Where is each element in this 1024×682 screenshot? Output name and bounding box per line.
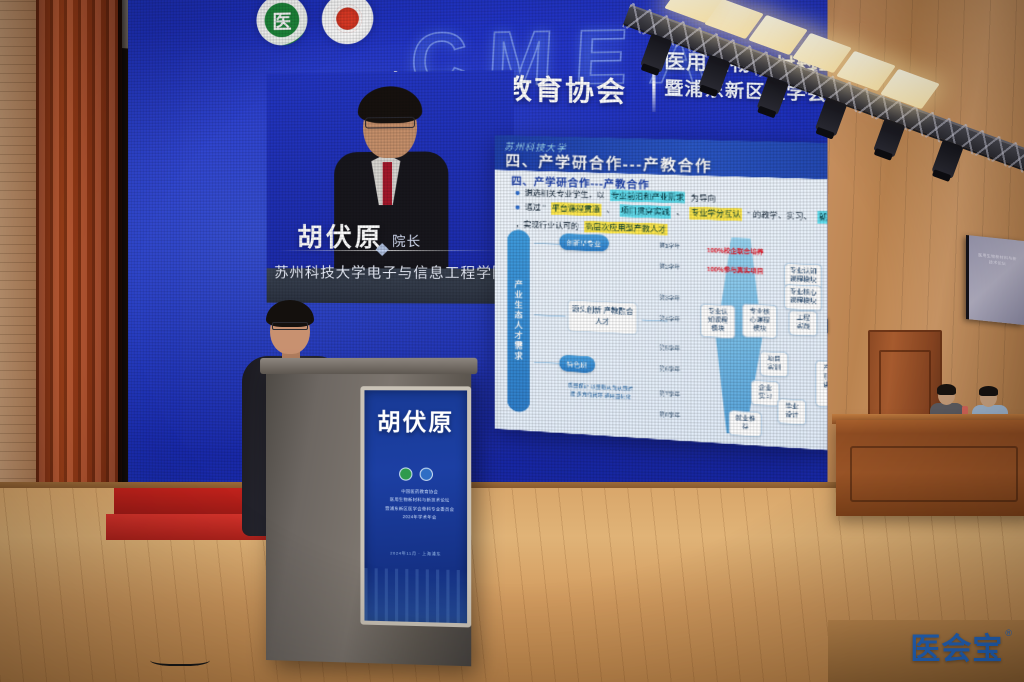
diagram-vertical-axis-label: 产业生态人才需求 [507, 229, 530, 412]
conference-hall-scene: 医用生物新材料与新技术论坛 医 CMEA 中国医药教育协会 医用生物新材料与新技… [0, 0, 1024, 682]
diagram-connector [534, 362, 559, 364]
lectern-cmea-logo-icon [399, 467, 412, 480]
diagram-funnel-caption: 质量保证 以量取从向从质过渡 多方位闭环 通用基础化 [566, 382, 636, 403]
stage-light-fixture [640, 33, 672, 72]
lectern-society-logo-icon [419, 468, 432, 481]
society-red-logo-mark [333, 4, 362, 33]
watermark-registered-mark: ® [1005, 628, 1012, 638]
tier-label-7: 第7学年 [659, 389, 680, 399]
diagram-connector [534, 243, 559, 245]
stage-light-fixture [873, 118, 905, 157]
flow-box-1: 专业认知课程模块 [700, 304, 735, 340]
bullet-2-seg-8: 就业一体化培养 [818, 211, 828, 225]
bullet-1-seg-3: 为导向 [691, 192, 716, 205]
tier-label-1: 第1学年 [659, 241, 680, 250]
flow-box-5: 企业实习 [751, 380, 780, 407]
stage-light-fixture [815, 97, 847, 136]
diagram-center-label: 源头创新 产教融合人才 [568, 300, 638, 335]
tier-label-4: 第4学年 [659, 314, 680, 323]
speaker-organization: 苏州科技大学电子与信息工程学院 [265, 262, 518, 283]
lectern-display-text: 中国医药教育协会 医用生物新材料与新技术论坛 暨浦东新区医学会骨科专业委员会 2… [371, 487, 470, 523]
society-red-logo [322, 0, 374, 45]
bullet-2-seg-2: 平台课程贯通 [551, 203, 601, 216]
bullet-2-seg-7: " 的教学、实习、 [747, 209, 812, 223]
stage-light-fixture [757, 76, 789, 115]
attendee-2-hair [979, 386, 998, 396]
tier-label-2: 第2学年 [659, 262, 680, 271]
tier-label-3: 第3学年 [659, 293, 680, 302]
lectern-podium: 胡伏原 中国医药教育协会 医用生物新材料与新技术论坛 暨浦东新区医学会骨科专业委… [266, 368, 471, 666]
speaker-title: 院长 [392, 231, 421, 250]
lectern-display-footer: 2024年11月 · 上海浦东 [364, 550, 467, 558]
slide-diagram: 产业生态人才需求 创新型专业 源头创新 产教融合人才 特色班 质量保证 以量取从… [503, 223, 827, 453]
bullet-2-seg-6: 专业学分互认 [690, 207, 742, 221]
flow-box-6: 毕业设计 [777, 398, 806, 425]
bullet-dot-icon [515, 191, 519, 195]
portrait-tie [383, 162, 392, 205]
diagram-pill-top: 创新型专业 [559, 233, 608, 251]
cmea-green-logo-glyph: 医 [265, 2, 300, 37]
bullet-dot-icon [515, 206, 519, 210]
flow-box-4: 项目实训 [760, 351, 789, 378]
stage-light-fixture [931, 139, 963, 178]
attendee-1-hair [937, 384, 956, 395]
tier-label-5: 第5学年 [659, 343, 680, 352]
conference-table [836, 420, 1024, 516]
diagram-red-note-1: 100%校企联合培养 [707, 245, 764, 257]
diagram-connector [534, 314, 565, 317]
cmea-green-logo: 医 [256, 0, 307, 46]
speaker-name: 胡伏原 [297, 217, 384, 254]
lectern-display-name: 胡伏原 [364, 402, 467, 437]
watermark-text: 医会宝 [910, 624, 1003, 668]
bullet-1-seg-1: 遴选相关专业学生，以 [525, 187, 605, 201]
watermark-logo: 医会宝 ® [910, 624, 1012, 668]
floor-cable [150, 652, 210, 666]
flow-box-3: 工程实践 [789, 310, 818, 337]
presenter-glasses-icon [272, 322, 308, 330]
lectern-line-4: 2024年学术年会 [371, 513, 470, 523]
led-logo-row: 医 [256, 0, 373, 46]
flow-box-7: 就业推荐 [729, 410, 762, 438]
lectern-display-skyline-graphic [364, 568, 467, 623]
tier-label-6: 第6学年 [659, 364, 680, 374]
diagram-pill-bottom: 特色班 [559, 355, 594, 373]
flow-box-2: 专业核心课程模块 [742, 303, 777, 339]
speaker-name-block: 胡伏原 院长 [297, 217, 421, 254]
bullet-2-seg-3: 、 [606, 204, 614, 216]
flow-box-top-2: 专业核心课程模块 [784, 284, 822, 311]
bullet-2-seg-1: 通过 " [525, 202, 546, 214]
tier-label-8: 第8学年 [659, 410, 680, 420]
diagram-red-note-2: 100%参与真实项目 [707, 264, 764, 276]
lectern-top-surface [260, 358, 477, 374]
portrait-glasses-icon [365, 117, 415, 129]
bullet-2-seg-5: 、 [676, 207, 684, 219]
flow-box-8: 产业前沿讲座 [815, 360, 827, 409]
stage-light-fixture [698, 55, 730, 94]
lectern-display-logos [364, 467, 467, 481]
lectern-display-screen: 胡伏原 中国医药教育协会 医用生物新材料与新技术论坛 暨浦东新区医学会骨科专业委… [360, 386, 471, 627]
bullet-2-seg-4: 项目贯穿实践 [620, 205, 671, 219]
stage-curtain-left [36, 0, 122, 540]
bullet-1-seg-2: 专业前沿和产业需求 [610, 190, 686, 204]
